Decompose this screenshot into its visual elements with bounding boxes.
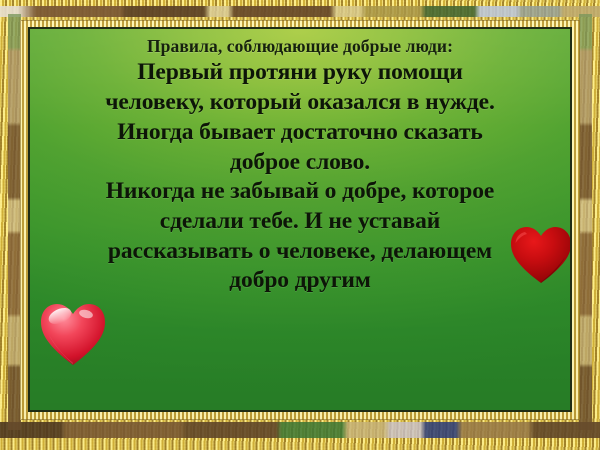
quote-line-4: доброе слово. [40, 148, 560, 178]
quote-line-8: добро другим [40, 266, 560, 296]
green-board: Правила, соблюдающие добрые люди: Первый… [30, 29, 570, 410]
quote-line-1: Первый протяни руку помощи [40, 58, 560, 88]
quote-text-block: Правила, соблюдающие добрые люди: Первый… [30, 35, 570, 296]
heart-icon [38, 301, 108, 367]
quote-line-2: человеку, который оказался в нужде. [40, 88, 560, 118]
quote-line-6: сделали тебе. И не уставай [40, 207, 560, 237]
frame-beam-top [0, 6, 600, 17]
quote-line-7: рассказывать о человеке, делающем [40, 237, 560, 267]
frame-post-right [579, 14, 592, 430]
quote-line-5: Никогда не забывай о добре, которое [40, 177, 560, 207]
frame-beam-bottom [0, 422, 600, 438]
page-title: Правила, соблюдающие добрые люди: [40, 35, 560, 57]
quote-slide: Правила, соблюдающие добрые люди: Первый… [0, 0, 600, 450]
quote-line-3: Иногда бывает достаточно сказать [40, 118, 560, 148]
